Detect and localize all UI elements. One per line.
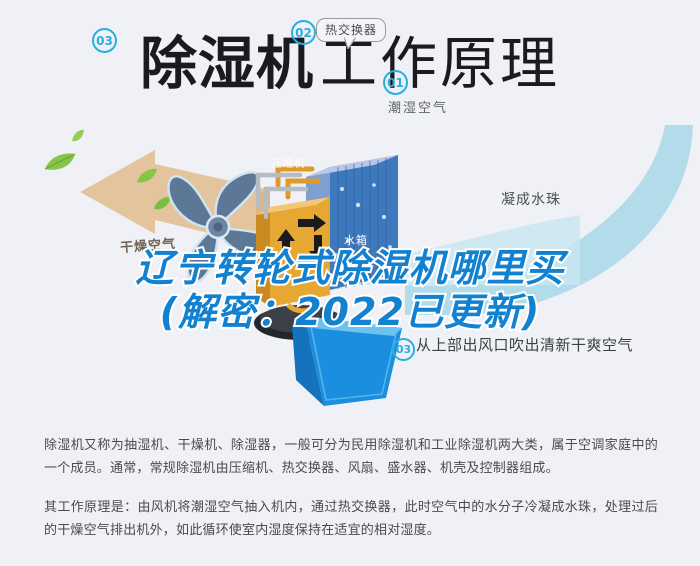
page-root: 除湿机工作原理 干燥空气 [0,0,700,566]
step-badge-01: 01 [383,70,408,95]
step-badge-02: 02 [291,20,316,45]
step-3-description: 从上部出风口吹出清新干爽空气 [416,334,633,355]
article-paragraph-2: 其工作原理是：由风机将潮湿空气抽入机内，通过热交换器，此时空气中的水分子冷凝成水… [44,495,658,541]
callout-tail-icon [344,37,356,49]
water-tank-label: 水箱 [344,232,368,248]
step-badge-03-left: 03 [92,28,117,53]
compressor-label: 压缩机 [272,155,305,170]
moist-air-label: 潮湿空气 [388,97,448,116]
page-title-main: 除湿机 [140,31,314,97]
article-paragraph-1: 除湿机又称为抽湿机、干燥机、除湿器，一般可分为民用除湿机和工业除湿机两大类，属于… [44,433,658,479]
step-badge-03-bottom: 03 [392,338,415,361]
leaf-icon [71,129,85,143]
condensation-label: 凝成水珠 [501,189,561,209]
leaf-icon [136,168,158,184]
leaf-icon [44,152,76,172]
water-tank-icon [290,310,420,415]
